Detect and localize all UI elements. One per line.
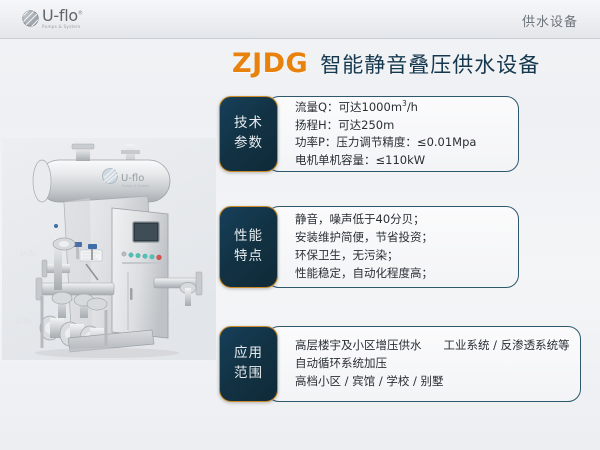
brand-logo: U-flo® Pumps & System (22, 8, 83, 29)
spec-line: 电机单机容量：≤110kW (295, 152, 508, 170)
svg-text:U-flo: U-flo (20, 250, 36, 258)
application-line: 高档小区 / 宾馆 / 学校 / 别墅 (295, 373, 570, 391)
control-cabinet (112, 208, 168, 338)
info-block-performance-tab: 性能 特点 (219, 206, 278, 288)
application-line-secondary: 工业系统 / 反渗透系统等 (444, 338, 570, 352)
logo-tagline: Pumps & System (42, 25, 83, 29)
feature-line: 安装维护简便，节省投资； (295, 229, 508, 247)
tab-label-line1: 技术 (234, 114, 263, 134)
product-code: ZJDG (232, 48, 308, 79)
page-title: ZJDG 智能静音叠压供水设备 (232, 48, 540, 79)
product-photo: U-flo U-flo U-flo U-flo U-flo U-flo U-fl… (2, 138, 216, 360)
info-block-performance-body: 静音，噪声低于40分贝； 安装维护简便，节省投资； 环保卫生，无污染； 性能稳定… (266, 206, 519, 288)
feature-line: 性能稳定，自动化程度高； (295, 265, 508, 283)
svg-text:U-flo: U-flo (121, 173, 144, 184)
tab-label-line2: 参数 (234, 134, 263, 154)
product-name: 智能静音叠压供水设备 (320, 49, 540, 79)
tab-label-line1: 性能 (234, 227, 263, 247)
info-block-application-body: 高层楼宇及小区增压供水工业系统 / 反渗透系统等 自动循环系统加压 高档小区 /… (266, 326, 581, 402)
spec-line: 扬程H：可达250m (295, 117, 508, 135)
info-block-application-tab: 应用 范围 (219, 326, 278, 402)
feature-line: 环保卫生，无污染； (295, 247, 508, 265)
application-line: 高层楼宇及小区增压供水工业系统 / 反渗透系统等 (295, 337, 570, 355)
spec-line: 流量Q：可达1000m3/h (295, 98, 508, 117)
info-block-tech-tab: 技术 参数 (219, 96, 278, 172)
striped-circle-icon (22, 10, 39, 27)
registered-mark: ® (78, 11, 83, 17)
header-category-title: 供水设备 (522, 11, 578, 30)
tab-label-line1: 应用 (234, 344, 263, 364)
logo-wordmark: U-flo® (42, 8, 83, 24)
spec-line: 功率P：压力调节精度：≤0.01Mpa (295, 134, 508, 152)
info-block-tech: 技术 参数 流量Q：可达1000m3/h 扬程H：可达250m 功率P：压力调节… (219, 96, 519, 172)
svg-text:Pumps & System: Pumps & System (122, 184, 149, 188)
info-block-application: 应用 范围 高层楼宇及小区增压供水工业系统 / 反渗透系统等 自动循环系统加压 … (219, 326, 519, 402)
info-block-tech-body: 流量Q：可达1000m3/h 扬程H：可达250m 功率P：压力调节精度：≤0.… (266, 96, 519, 172)
application-line: 自动循环系统加压 (295, 355, 570, 373)
tab-label-line2: 范围 (234, 364, 263, 384)
page-header: U-flo® Pumps & System 供水设备 (0, 0, 600, 39)
feature-line: 静音，噪声低于40分贝； (295, 211, 508, 229)
svg-text:U-flo: U-flo (16, 318, 32, 326)
info-block-performance: 性能 特点 静音，噪声低于40分贝； 安装维护简便，节省投资； 环保卫生，无污染… (219, 206, 519, 288)
logo-text: U-flo® Pumps & System (42, 8, 83, 29)
tab-label-line2: 特点 (234, 247, 263, 267)
